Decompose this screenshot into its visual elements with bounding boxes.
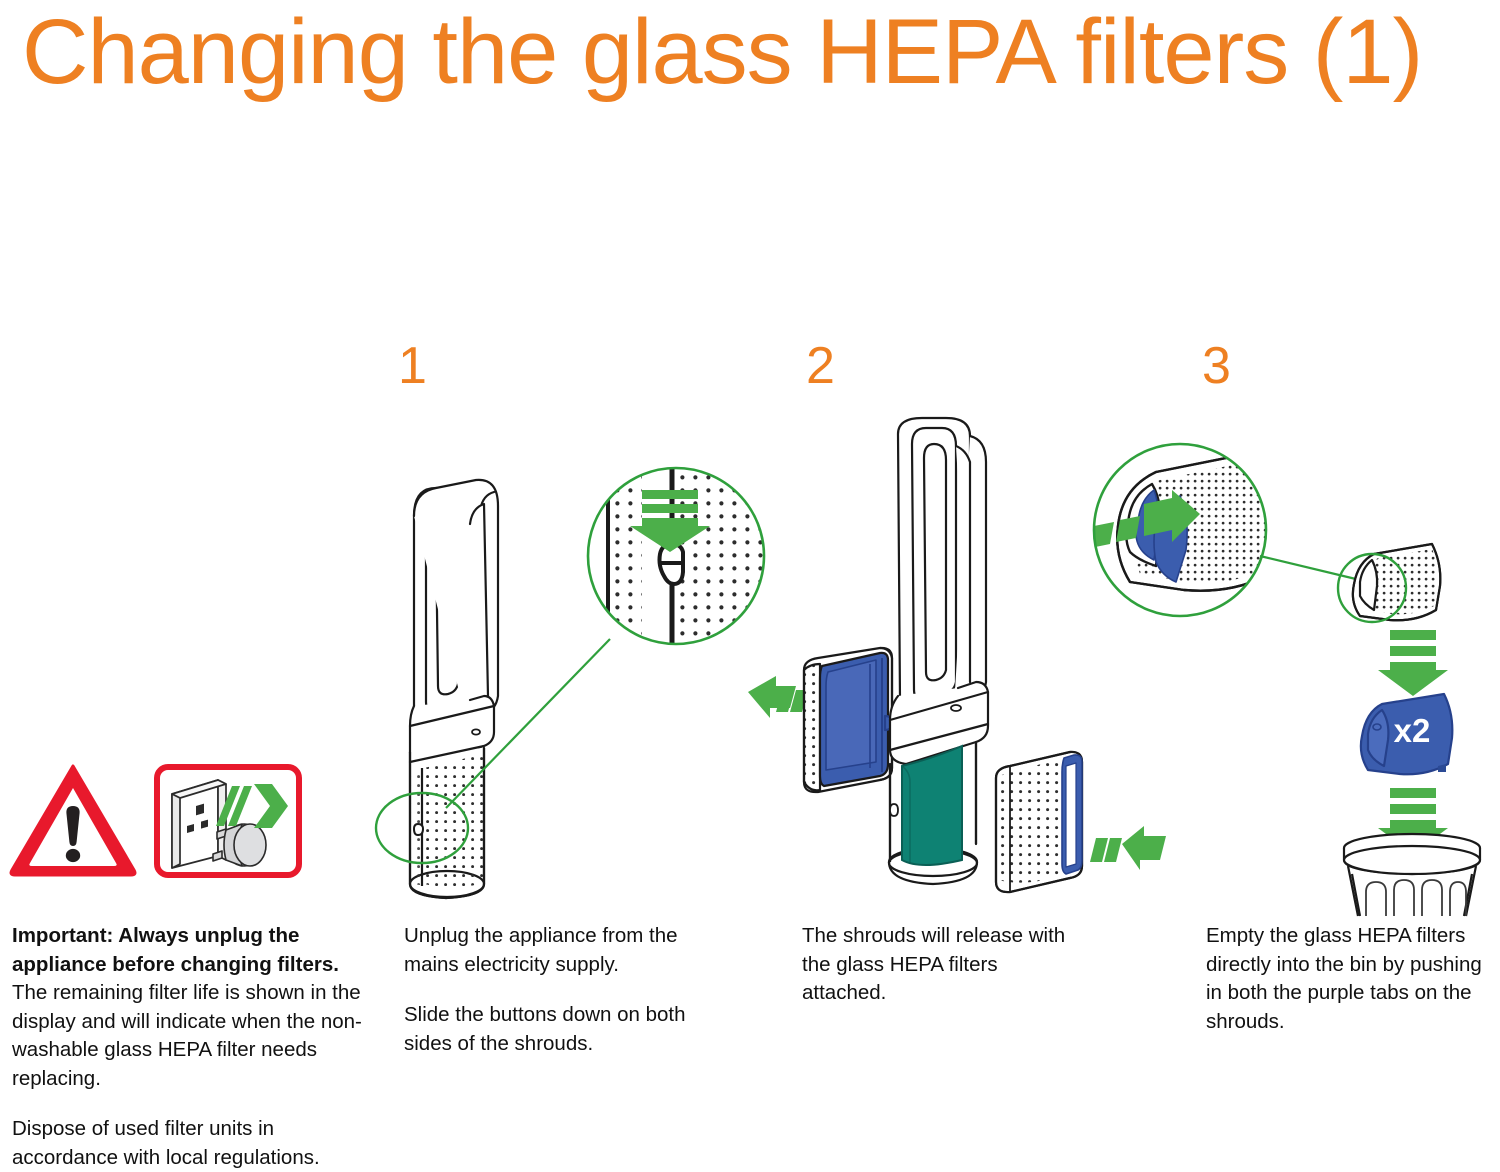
warning-triangle-icon (8, 762, 138, 878)
waste-bin-illustration (1344, 834, 1480, 916)
caption-step-1-p1: Unplug the appliance from the mains elec… (404, 922, 704, 979)
warning-icon-row (8, 762, 308, 882)
warning-lead-paragraph: Important: Always unplug the appliance b… (12, 922, 364, 1093)
glass-hepa-filter-teal (902, 746, 962, 865)
step-number-1: 1 (398, 340, 427, 392)
figure-step-3: x2 (1060, 430, 1500, 916)
warning-lead-bold: Important: Always unplug the appliance b… (12, 924, 339, 976)
bin-ribs (1366, 880, 1466, 916)
unplug-socket-icon (154, 764, 302, 878)
page-title: Changing the glass HEPA filters (1) (22, 0, 1482, 106)
down-arrow-green (1378, 630, 1448, 696)
caption-step-3: Empty the glass HEPA filters directly in… (1206, 922, 1496, 1036)
instruction-sheet: Changing the glass HEPA filters (1) 1 2 … (0, 0, 1500, 1172)
warning-caption: Important: Always unplug the appliance b… (12, 922, 364, 1172)
caption-step-2: The shrouds will release with the glass … (802, 922, 1072, 1008)
caption-step-1-p2: Slide the buttons down on both sides of … (404, 1001, 704, 1058)
callout-magnifier-circle (1090, 444, 1275, 616)
quantity-badge: x2 (1394, 712, 1431, 749)
step-number-3: 3 (1202, 340, 1231, 392)
warning-dispose-paragraph: Dispose of used filter units in accordan… (12, 1115, 364, 1172)
shroud-left-open (804, 648, 892, 792)
step-number-2: 2 (806, 340, 835, 392)
caption-step-3-p1: Empty the glass HEPA filters directly in… (1206, 922, 1496, 1036)
caption-step-2-p1: The shrouds will release with the glass … (802, 922, 1072, 1008)
left-arrow-green (748, 676, 808, 718)
caption-step-1: Unplug the appliance from the mains elec… (404, 922, 704, 1058)
warning-lead-rest: The remaining filter life is shown in th… (12, 981, 362, 1090)
